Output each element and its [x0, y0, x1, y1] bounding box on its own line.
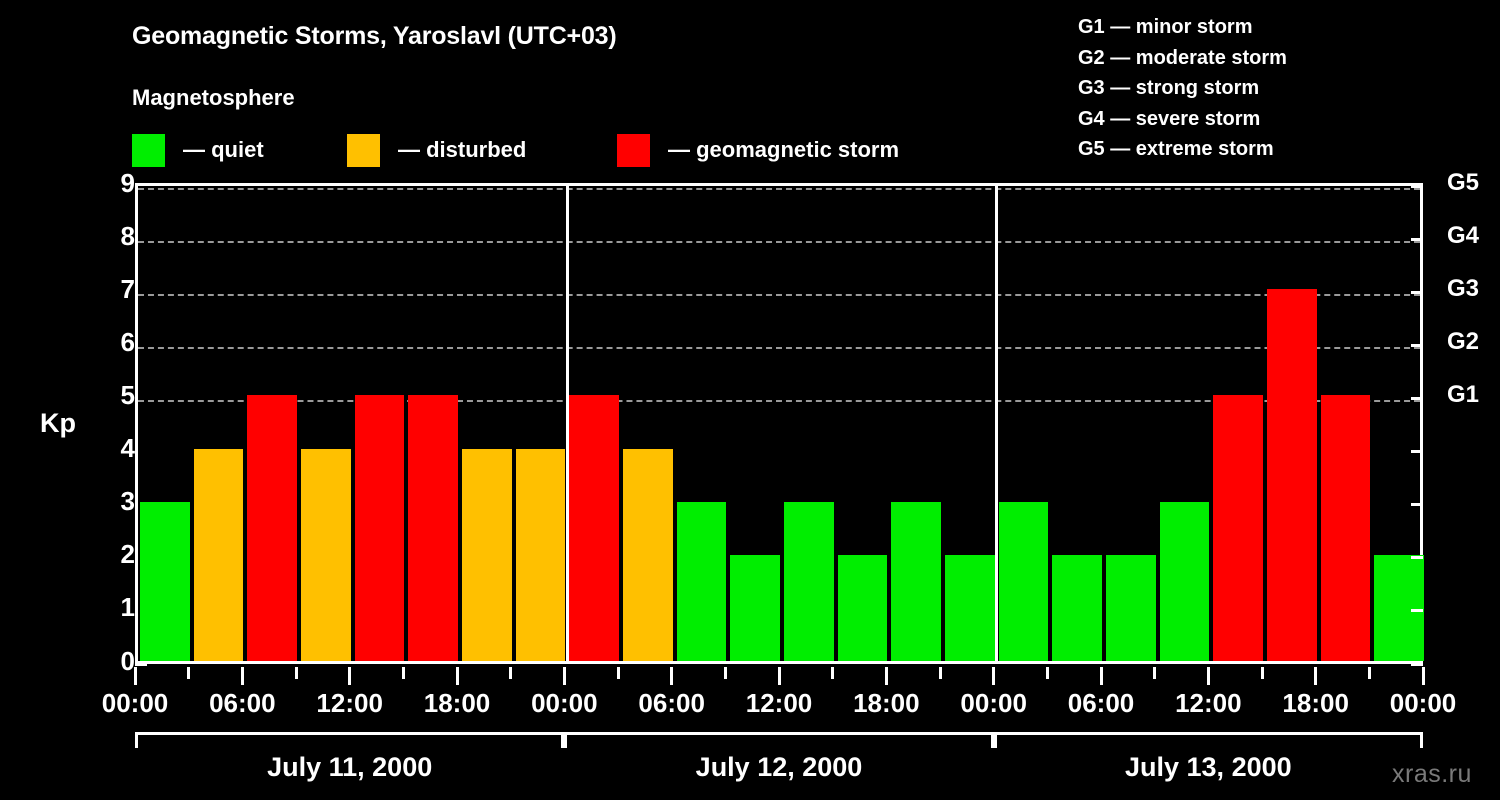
day-brackets: July 11, 2000July 12, 2000July 13, 2000 — [0, 732, 1500, 798]
gscale-row-g5: G5 — extreme storm — [1078, 134, 1287, 165]
bracket-line — [564, 732, 993, 735]
x-axis-label: 18:00 — [853, 688, 920, 719]
bracket-cap-left — [994, 732, 997, 748]
g-tick-mark-g1 — [1411, 397, 1423, 400]
y-tick-label-0: 0 — [95, 646, 135, 677]
g-tick-label-g1: G1 — [1447, 381, 1479, 409]
bracket-line — [135, 732, 564, 735]
x-axis-label: 06:00 — [1068, 688, 1135, 719]
gridline-kp-8 — [138, 241, 1420, 243]
legend-item-disturbed: — disturbed — [347, 133, 526, 167]
g-tick-mark-g2 — [1411, 344, 1423, 347]
day-label: July 13, 2000 — [994, 752, 1423, 783]
x-tick-mark — [241, 667, 244, 685]
x-tick-mark — [724, 667, 727, 679]
x-axis-label: 06:00 — [638, 688, 705, 719]
legend-item-quiet: — quiet — [132, 133, 264, 167]
g-tick-mark-minor-2 — [1411, 556, 1423, 559]
bar — [999, 502, 1049, 661]
day-bracket: July 13, 2000 — [994, 732, 1423, 748]
bar — [1267, 289, 1317, 661]
legend-label-storm: — geomagnetic storm — [668, 137, 899, 163]
page-title: Geomagnetic Storms, Yaroslavl (UTC+03) — [132, 22, 616, 51]
gscale-row-g2: G2 — moderate storm — [1078, 43, 1287, 74]
day-bracket: July 12, 2000 — [564, 732, 993, 748]
y-tick-label-5: 5 — [95, 380, 135, 411]
x-axis-label: 00:00 — [102, 688, 169, 719]
day-separator — [566, 186, 569, 661]
bar — [569, 395, 619, 661]
x-axis-ticks — [135, 667, 1423, 687]
day-bracket: July 11, 2000 — [135, 732, 564, 748]
day-separator — [995, 186, 998, 661]
bar — [140, 502, 190, 661]
x-tick-mark — [1046, 667, 1049, 679]
x-axis-label: 00:00 — [1390, 688, 1457, 719]
g-tick-mark-minor-3 — [1411, 503, 1423, 506]
x-axis-label: 00:00 — [531, 688, 598, 719]
chart-subtitle: Magnetosphere — [132, 85, 295, 111]
day-label: July 11, 2000 — [135, 752, 564, 783]
x-axis-label: 12:00 — [746, 688, 813, 719]
x-tick-mark — [1207, 667, 1210, 685]
gridline-kp-7 — [138, 294, 1420, 296]
gscale-legend: G1 — minor stormG2 — moderate stormG3 — … — [1078, 12, 1287, 165]
x-tick-mark — [509, 667, 512, 679]
x-tick-mark — [670, 667, 673, 685]
right-axis-ticks — [1411, 183, 1423, 664]
x-tick-mark — [1422, 667, 1425, 685]
bar — [677, 502, 727, 661]
g-tick-mark-minor-1 — [1411, 609, 1423, 612]
bar — [355, 395, 405, 661]
watermark: xras.ru — [1392, 760, 1472, 789]
bar — [247, 395, 297, 661]
x-tick-mark — [187, 667, 190, 679]
plot-inner — [138, 186, 1420, 661]
y-axis-title: Kp — [40, 408, 76, 439]
x-axis-label: 18:00 — [1282, 688, 1349, 719]
legend-swatch-quiet-icon — [132, 134, 165, 167]
bar — [408, 395, 458, 661]
bracket-line — [994, 732, 1423, 735]
g-tick-label-g5: G5 — [1447, 169, 1479, 197]
x-tick-mark — [1261, 667, 1264, 679]
bar — [838, 555, 888, 661]
gscale-row-g4: G4 — severe storm — [1078, 104, 1287, 135]
legend-swatch-disturbed-icon — [347, 134, 380, 167]
bar — [891, 502, 941, 661]
bar — [784, 502, 834, 661]
y-tick-label-3: 3 — [95, 486, 135, 517]
x-axis-label: 12:00 — [1175, 688, 1242, 719]
x-tick-mark — [939, 667, 942, 679]
x-tick-mark — [1153, 667, 1156, 679]
x-tick-mark — [1100, 667, 1103, 685]
x-axis-label: 06:00 — [209, 688, 276, 719]
y-tick-label-9: 9 — [95, 168, 135, 199]
x-axis-label: 12:00 — [316, 688, 383, 719]
bar — [301, 449, 351, 661]
x-tick-mark — [992, 667, 995, 685]
x-tick-mark — [617, 667, 620, 679]
g-tick-mark-g5 — [1411, 185, 1423, 188]
g-tick-label-g2: G2 — [1447, 328, 1479, 356]
gscale-row-g3: G3 — strong storm — [1078, 73, 1287, 104]
x-tick-mark — [1314, 667, 1317, 685]
x-tick-mark — [295, 667, 298, 679]
bar — [1321, 395, 1371, 661]
bracket-cap-right — [1420, 732, 1423, 748]
bracket-cap-left — [564, 732, 567, 748]
legend-label-quiet: — quiet — [183, 137, 264, 163]
g-tick-mark-minor-0 — [1411, 663, 1423, 666]
y-tick-label-4: 4 — [95, 433, 135, 464]
legend-item-storm: — geomagnetic storm — [617, 133, 899, 167]
y-tick-label-7: 7 — [95, 274, 135, 305]
bar — [623, 449, 673, 661]
x-tick-mark — [831, 667, 834, 679]
g-tick-mark-g3 — [1411, 291, 1423, 294]
g-tick-mark-g4 — [1411, 238, 1423, 241]
legend-label-disturbed: — disturbed — [398, 137, 526, 163]
bar — [462, 449, 512, 661]
x-tick-mark — [134, 667, 137, 685]
bar — [194, 449, 244, 661]
gscale-row-g1: G1 — minor storm — [1078, 12, 1287, 43]
x-tick-mark — [348, 667, 351, 685]
y-tick-label-6: 6 — [95, 327, 135, 358]
x-tick-mark — [456, 667, 459, 685]
bar — [1213, 395, 1263, 661]
x-axis-label: 18:00 — [424, 688, 491, 719]
x-tick-mark — [885, 667, 888, 685]
g-tick-label-g3: G3 — [1447, 275, 1479, 303]
y-axis-labels: 0123456789 — [77, 183, 135, 664]
legend-swatch-storm-icon — [617, 134, 650, 167]
plot-area — [135, 183, 1423, 664]
x-axis-label: 00:00 — [960, 688, 1027, 719]
chart-root: Geomagnetic Storms, Yaroslavl (UTC+03) M… — [0, 0, 1500, 800]
x-tick-mark — [778, 667, 781, 685]
y-tick-label-2: 2 — [95, 539, 135, 570]
day-label: July 12, 2000 — [564, 752, 993, 783]
y-tick-label-1: 1 — [95, 592, 135, 623]
bar — [730, 555, 780, 661]
right-axis-labels: G1G2G3G4G5 — [1429, 183, 1499, 664]
bar — [516, 449, 566, 661]
gridline-kp-6 — [138, 347, 1420, 349]
bar — [1052, 555, 1102, 661]
g-tick-label-g4: G4 — [1447, 222, 1479, 250]
x-tick-mark — [1368, 667, 1371, 679]
bar — [1106, 555, 1156, 661]
gridline-kp-9 — [138, 188, 1420, 190]
bar — [945, 555, 995, 661]
x-tick-mark — [402, 667, 405, 679]
bar — [1160, 502, 1210, 661]
y-tick-label-8: 8 — [95, 221, 135, 252]
x-axis-labels: 00:0006:0012:0018:0000:0006:0012:0018:00… — [0, 688, 1500, 724]
g-tick-mark-minor-4 — [1411, 450, 1423, 453]
x-tick-mark — [563, 667, 566, 685]
bracket-cap-left — [135, 732, 138, 748]
